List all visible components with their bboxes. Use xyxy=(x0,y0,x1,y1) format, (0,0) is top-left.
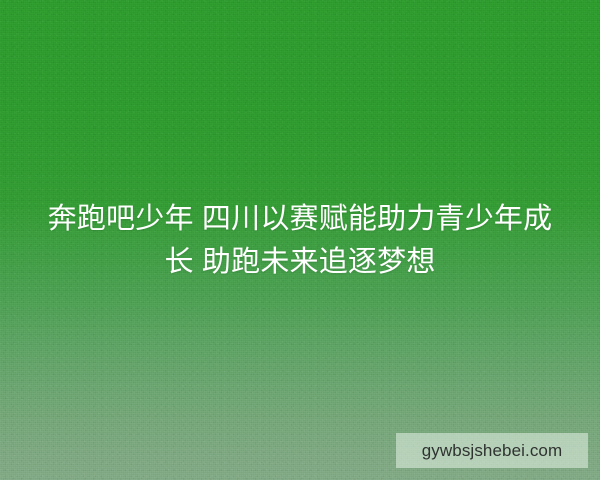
headline-text: 奔跑吧少年 四川以赛赋能助力青少年成长 助跑未来追逐梦想 xyxy=(34,198,566,284)
watermark-badge: gywbsjshebei.com xyxy=(396,433,588,468)
article-image-canvas: 奔跑吧少年 四川以赛赋能助力青少年成长 助跑未来追逐梦想 gywbsjshebe… xyxy=(0,0,600,480)
watermark-domain-text: gywbsjshebei.com xyxy=(422,441,563,461)
